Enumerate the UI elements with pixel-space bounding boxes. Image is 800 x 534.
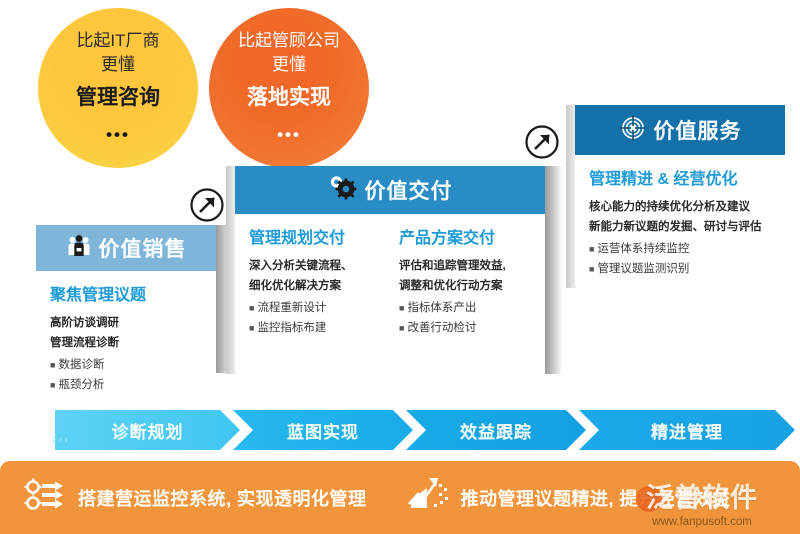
bullet-label: 流程重新设计 [257, 298, 326, 318]
panel-lead-line: 评估和追踪管理效益, [399, 256, 531, 276]
process-step-2[interactable]: 蓝图实现 [233, 410, 413, 450]
bottom-item-label: 推动管理议题精进, 提升经营效益 [461, 485, 731, 511]
panel-title: 价值销售 [99, 233, 187, 263]
radar-target-icon [619, 114, 647, 147]
panel-lead-line: 高阶访谈调研 [50, 313, 216, 333]
process-step-label: 蓝图实现 [287, 418, 359, 443]
circle-line-1: 比起管顾公司 [238, 29, 340, 54]
circle-badge-consulting-firm: 比起管顾公司 更懂 落地实现 ••• [209, 8, 369, 168]
arrow-up-right-icon [524, 124, 560, 165]
list-item: ■ 瓶颈分析 [50, 375, 216, 395]
arrow-up-right-icon [189, 187, 225, 228]
square-bullet-icon: ■ [399, 321, 404, 337]
list-item: ■ 改善行动检讨 [399, 318, 531, 338]
bullet-label: 数据诊断 [58, 355, 104, 375]
list-item: ■ 指标体系产出 [399, 298, 531, 318]
bullet-label: 管理议题监测识别 [597, 259, 689, 279]
panel-title: 价值服务 [654, 115, 742, 145]
panel-header-value-sales: 价值销售 [36, 225, 216, 271]
panel-lead-line: 深入分析关键流程、 [249, 256, 381, 276]
circle-dots: ••• [277, 123, 301, 148]
panel-lead-line: 核心能力的持续优化分析及建议 [589, 197, 785, 217]
panel-subtitle: 产品方案交付 [399, 224, 531, 248]
panel-subtitle: 聚焦管理议题 [50, 281, 216, 305]
bullet-label: 瓶颈分析 [58, 375, 104, 395]
bottom-item-monitoring: 搭建营运监控系统, 实现透明化管理 [22, 475, 367, 520]
panel-value-sales[interactable]: 价值销售 聚焦管理议题 高阶访谈调研 管理流程诊断 ■ 数据诊断 ■ 瓶颈分析 [36, 225, 216, 370]
gears-icon [328, 174, 358, 207]
panel-lead-line: 细化优化解决方案 [249, 276, 381, 296]
square-bullet-icon: ■ [249, 301, 254, 317]
bottom-item-label: 搭建营运监控系统, 实现透明化管理 [78, 485, 367, 511]
panel-header-value-delivery: 价值交付 [235, 166, 545, 214]
square-bullet-icon: ■ [50, 378, 55, 394]
circle-line-2: 更懂 [272, 53, 306, 78]
list-item: ■ 流程重新设计 [249, 298, 381, 318]
process-step-1[interactable]: 诊断规划 [55, 410, 240, 450]
circle-emphasis: 管理咨询 [76, 83, 160, 113]
bullet-label: 运营体系持续监控 [597, 239, 689, 259]
circle-line-1: 比起IT厂商 [76, 29, 159, 54]
square-bullet-icon: ■ [399, 301, 404, 317]
panel-body-value-delivery: 管理规划交付 深入分析关键流程、 细化优化解决方案 ■ 流程重新设计 ■ 监控指… [235, 214, 545, 339]
square-bullet-icon: ■ [50, 358, 55, 374]
list-item: ■ 监控指标布建 [249, 318, 381, 338]
process-tail-chevrons: ››› [53, 434, 70, 446]
gears-arrows-icon [22, 475, 68, 520]
panel-value-delivery[interactable]: 价值交付 管理规划交付 深入分析关键流程、 细化优化解决方案 ■ 流程重新设计 … [235, 166, 545, 371]
list-item: ■ 管理议题监测识别 [589, 259, 785, 279]
circle-line-2: 更懂 [101, 53, 135, 78]
circle-badge-it-vendor: 比起IT厂商 更懂 管理咨询 ••• [38, 8, 198, 168]
delivery-column-product: 产品方案交付 评估和追踪管理效益, 调整和优化行动方案 ■ 指标体系产出 ■ 改… [399, 224, 531, 339]
panel-header-value-service: 价值服务 [575, 105, 785, 155]
panel-lead-line: 新能力新议题的发掘、研讨与评估 [589, 217, 785, 237]
panel-lead-line: 调整和优化行动方案 [399, 276, 531, 296]
panel-body-value-sales: 聚焦管理议题 高阶访谈调研 管理流程诊断 ■ 数据诊断 ■ 瓶颈分析 [36, 271, 216, 396]
delivery-column-planning: 管理规划交付 深入分析关键流程、 细化优化解决方案 ■ 流程重新设计 ■ 监控指… [249, 224, 381, 339]
circle-dots: ••• [106, 123, 130, 148]
bullet-label: 监控指标布建 [257, 318, 326, 338]
panel-lead-line: 管理流程诊断 [50, 333, 216, 353]
square-bullet-icon: ■ [249, 321, 254, 337]
process-step-4[interactable]: 精进管理 [579, 410, 795, 450]
process-step-3[interactable]: 效益跟踪 [406, 410, 586, 450]
bottom-summary-bar: 搭建营运监控系统, 实现透明化管理 [0, 461, 800, 534]
square-bullet-icon: ■ [589, 242, 594, 258]
process-step-label: 诊断规划 [112, 418, 184, 443]
bullet-label: 改善行动检讨 [407, 318, 476, 338]
bottom-item-improvement: 推动管理议题精进, 提升经营效益 [405, 474, 731, 521]
people-icon [66, 233, 92, 264]
bullet-label: 指标体系产出 [407, 298, 476, 318]
process-arrow-bar: 诊断规划 蓝图实现 效益跟踪 精进管理 ››› [55, 410, 795, 450]
panel-body-value-service: 管理精进 & 经营优化 核心能力的持续优化分析及建议 新能力新议题的发掘、研讨与… [575, 155, 785, 280]
growth-chart-icon [405, 474, 451, 521]
infographic-canvas: 比起IT厂商 更懂 管理咨询 ••• 比起管顾公司 更懂 落地实现 ••• [0, 0, 800, 534]
panel-subtitle: 管理规划交付 [249, 224, 381, 248]
circle-emphasis: 落地实现 [247, 83, 331, 113]
panel-value-service[interactable]: 价值服务 管理精进 & 经营优化 核心能力的持续优化分析及建议 新能力新议题的发… [575, 105, 785, 285]
panel-subtitle: 管理精进 & 经营优化 [589, 165, 785, 189]
panel-shadow-delivery [545, 166, 561, 374]
process-step-label: 效益跟踪 [460, 418, 532, 443]
panel-title: 价值交付 [365, 175, 453, 205]
square-bullet-icon: ■ [589, 262, 594, 278]
process-step-label: 精进管理 [651, 418, 723, 443]
list-item: ■ 运营体系持续监控 [589, 239, 785, 259]
list-item: ■ 数据诊断 [50, 355, 216, 375]
